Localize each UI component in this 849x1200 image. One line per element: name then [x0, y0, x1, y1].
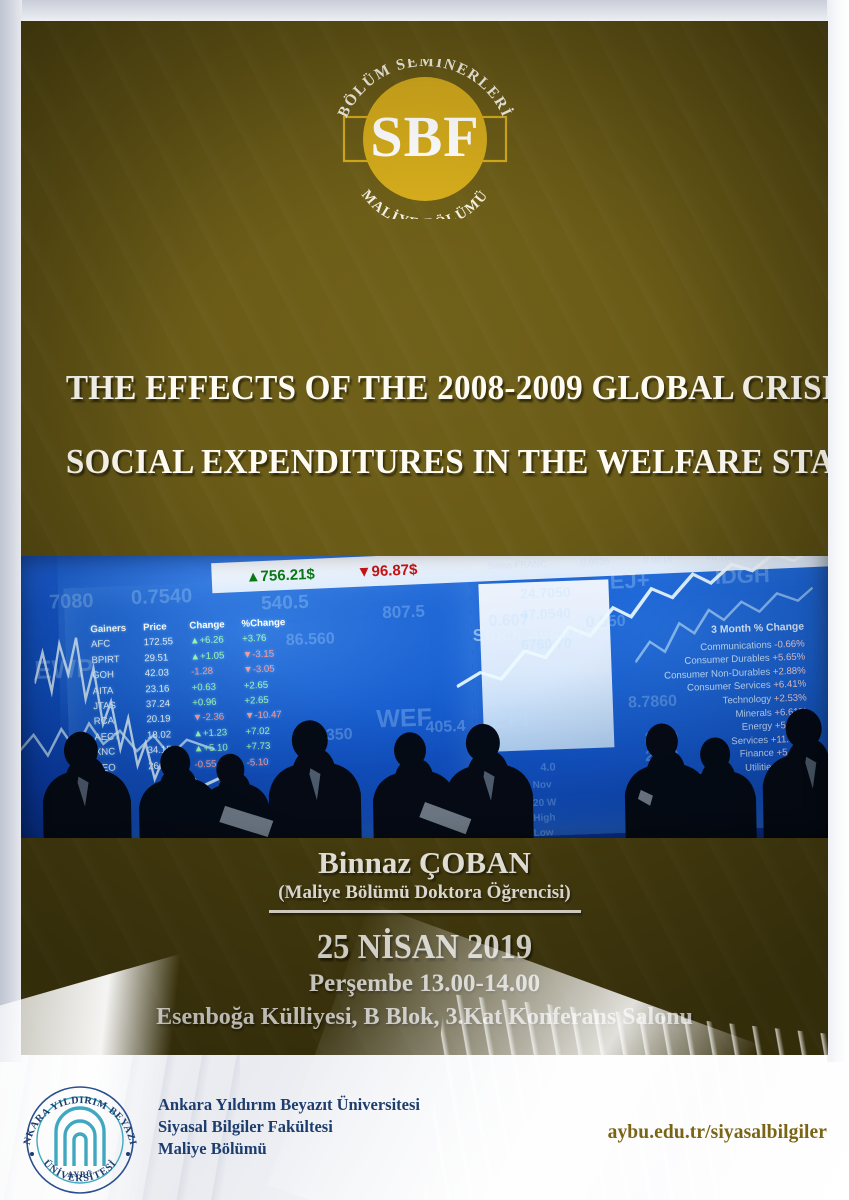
footer-org-line-3: Maliye Bölümü: [158, 1138, 420, 1160]
sector-change: -0.66%: [774, 638, 805, 650]
svg-text:AYBÜ: AYBÜ: [67, 1170, 92, 1179]
svg-text:SBF: SBF: [370, 104, 479, 169]
gainers-cell: 172.55: [142, 634, 189, 651]
poster-title: THE EFFECTS OF THE 2008-2009 GLOBAL CRIS…: [21, 351, 828, 499]
ticker-up-value: ▲756.21$: [245, 565, 315, 585]
sector-name: Communications: [700, 639, 774, 653]
sector-change: +5.65%: [772, 652, 805, 664]
sector-name: Consumer Durables: [684, 653, 772, 667]
photo-ghost-number: 540.5: [260, 592, 308, 616]
footer-org-line-1: Ankara Yıldırım Beyazıt Üniversitesi: [158, 1094, 420, 1116]
speaker-and-event-block: Binnaz ÇOBAN (Maliye Bölümü Doktora Öğre…: [21, 845, 828, 1032]
paper-edge-top: [0, 0, 849, 22]
gainers-cell: 29.51: [143, 649, 190, 666]
footer-organization: Ankara Yıldırım Beyazıt Üniversitesi Siy…: [158, 1094, 420, 1160]
photo-ghost-number: 807.5: [382, 602, 425, 624]
fx-rate: 0.9535: [581, 556, 610, 567]
event-location: Esenboğa Külliyesi, B Blok, 3.Kat Konfer…: [21, 1002, 828, 1032]
divider-rule: [269, 910, 581, 913]
footer-org-line-2: Siyasal Bilgiler Fakültesi: [158, 1116, 420, 1138]
event-time: Perşembe 13.00-14.00: [21, 968, 828, 999]
speaker-name: Binnaz ÇOBAN: [21, 845, 828, 881]
title-line-2: SOCIAL EXPENDITURES IN THE WELFARE STATE…: [66, 425, 783, 499]
gainers-col-header: Price: [142, 619, 189, 636]
speaker-role: (Maliye Bölümü Doktora Öğrencisi): [21, 881, 828, 905]
aybu-university-seal: ANKARA YILDIRIM BEYAZIT ÜNİVERSİTESİ AYB…: [16, 1082, 144, 1198]
photo-ghost-number: 7080: [49, 590, 94, 615]
poster-main-panel: BÖLÜM SEMİNERLERİ MALİYE BÖLÜMÜ SBF THE …: [21, 21, 828, 1055]
stock-market-photo: 7080 0.7540 540.5 807.5 0.607 0.650 86.5…: [21, 556, 828, 838]
title-line-1: THE EFFECTS OF THE 2008-2009 GLOBAL CRIS…: [66, 351, 783, 425]
paper-edge-right: [827, 0, 849, 1062]
poster-footer: ANKARA YILDIRIM BEYAZIT ÜNİVERSİTESİ AYB…: [0, 1060, 849, 1200]
fx-change: 0.0018: [643, 556, 672, 565]
fx-pct: +0.188%: [706, 556, 744, 562]
photo-people-silhouettes: [21, 666, 828, 838]
sbf-seminar-logo: BÖLÜM SEMİNERLERİ MALİYE BÖLÜMÜ SBF: [310, 59, 540, 219]
fx-name: Swiss FRANC: [487, 557, 547, 570]
photo-ghost-number: 47.0540: [521, 605, 572, 623]
event-date: 25 NİSAN 2019: [49, 926, 800, 968]
photo-ghost-number: 0.7540: [130, 585, 192, 610]
footer-website-url[interactable]: aybu.edu.tr/siyasalbilgiler: [608, 1122, 827, 1144]
ticker-down-value: ▼96.87$: [356, 561, 417, 581]
photo-ghost-number: 24.7050: [520, 584, 571, 602]
paper-edge-left: [0, 0, 22, 1062]
seminar-poster: BÖLÜM SEMİNERLERİ MALİYE BÖLÜMÜ SBF THE …: [0, 0, 849, 1200]
